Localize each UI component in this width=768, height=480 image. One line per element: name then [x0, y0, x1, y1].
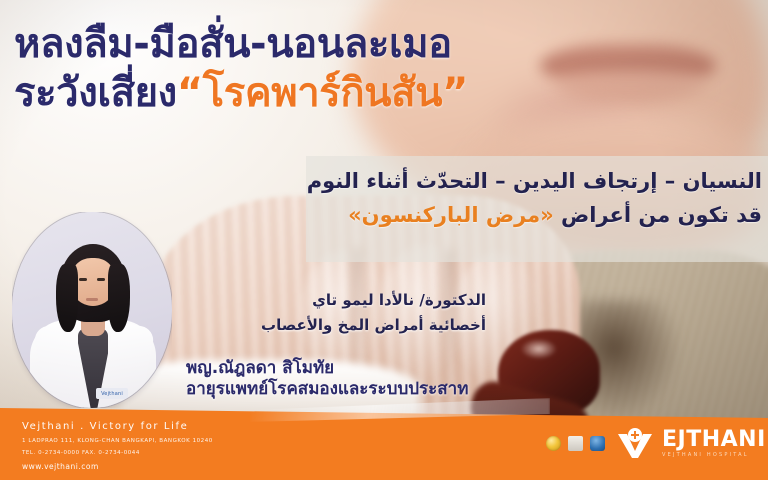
footer-tagline: Vejthani . Victory for Life	[22, 420, 213, 434]
thai-doctor-name: พญ.ณัฎลดา สิโมทัย	[186, 358, 468, 379]
logo-wordmark: EJTHANI VEJTHANI HOSPITAL	[662, 429, 766, 458]
arabic-symptoms-line-2: قد تكون من أعراض «مرض الباركنسون»	[202, 198, 762, 232]
thai-doctor-specialty: อายุรแพทย์โรคสมองและระบบประสาท	[186, 379, 468, 400]
gold-seal-icon	[546, 436, 561, 451]
arabic-symptoms-prefix: قد تكون من أعراض	[561, 203, 762, 227]
headline-line-2-prefix: ระวังเสี่ยง	[14, 70, 177, 116]
arabic-symptoms-block: النسيان – إرتجاف اليدين – التحدّث أثناء …	[202, 164, 762, 232]
arabic-symptoms-line-1: النسيان – إرتجاف اليدين – التحدّث أثناء …	[202, 164, 762, 198]
footer-address: 1 LADPRAO 111, KLONG-CHAN BANGKAPI, BANG…	[22, 436, 213, 446]
logo-name: EJTHANI	[662, 429, 766, 451]
headline-line-2: ระวังเสี่ยง“โรคพาร์กินสัน”	[14, 73, 574, 114]
doctor-photo-disc: Vejthani	[12, 212, 172, 408]
doctor-hair-left	[56, 264, 78, 332]
headline-block: หลงลืม-มือสั่น-นอนละเมอ ระวังเสี่ยง“โรคพ…	[14, 24, 574, 114]
doctor-mouth	[86, 298, 98, 301]
arabic-disease-name: «مرض الباركنسون»	[348, 203, 554, 227]
doctor-eye-right	[97, 278, 105, 281]
thai-doctor-credit: พญ.ณัฎลดา สิโมทัย อายุรแพทย์โรคสมองและระ…	[186, 358, 468, 401]
footer-website[interactable]: www.vejthani.com	[22, 462, 213, 471]
logo-subtitle: VEJTHANI HOSPITAL	[662, 453, 766, 458]
footer-text-block: Vejthani . Victory for Life 1 LADPRAO 11…	[22, 420, 213, 471]
doctor-eye-left	[79, 278, 87, 281]
footer-contact: TEL. 0-2734-0000 FAX. 0-2734-0044	[22, 448, 213, 458]
doctor-coat-badge: Vejthani	[96, 388, 128, 399]
logo-cluster: EJTHANI VEJTHANI HOSPITAL	[546, 428, 766, 458]
grey-award-icon	[568, 436, 583, 451]
headline-line-1: หลงลืม-มือสั่น-นอนละเมอ	[14, 24, 574, 65]
arabic-doctor-specialty: أخصائية أمراض المخ والأعصاب	[166, 313, 486, 338]
arabic-doctor-name: الدكتورة/ نالأدا ليمو تاي	[166, 288, 486, 313]
vejthani-v-mark-icon	[616, 428, 654, 458]
blue-accreditation-icon	[590, 436, 605, 451]
doctor-photo: Vejthani	[12, 212, 172, 408]
doctor-hair-right	[108, 264, 130, 332]
arabic-doctor-credit: الدكتورة/ نالأدا ليمو تاي أخصائية أمراض …	[166, 288, 486, 338]
headline-disease-name: “โรคพาร์กินสัน”	[177, 70, 468, 116]
poster-canvas: หลงลืม-มือสั่น-นอนละเมอ ระวังเสี่ยง“โรคพ…	[0, 0, 768, 480]
